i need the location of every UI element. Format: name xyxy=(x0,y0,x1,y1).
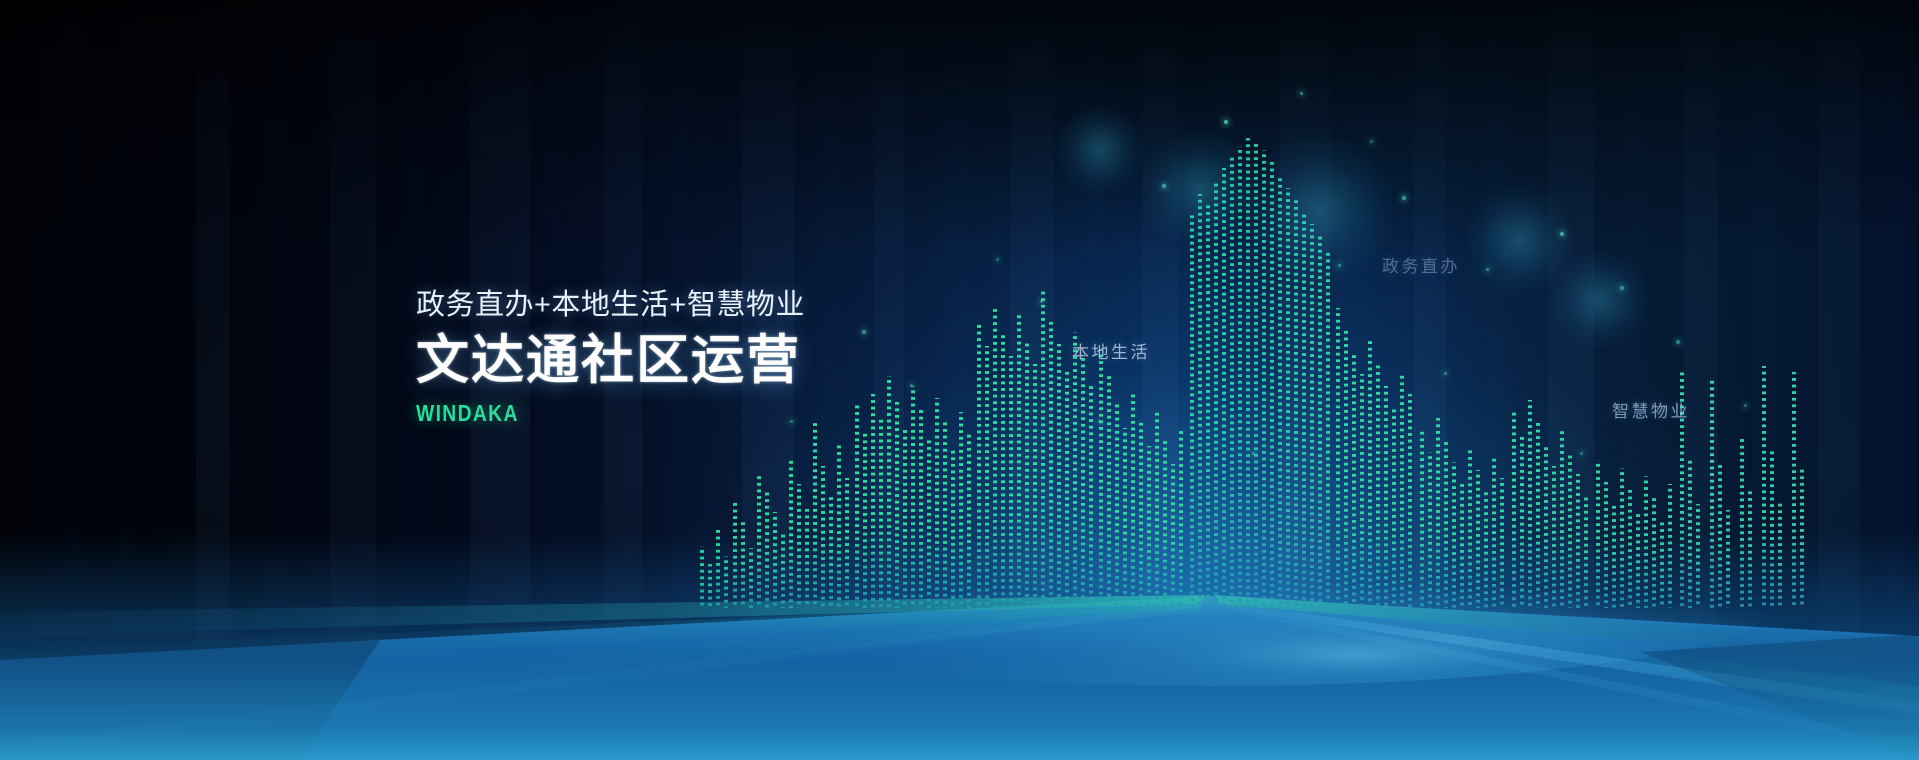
glow-particle xyxy=(1224,120,1228,124)
glow-particle xyxy=(1676,340,1680,344)
floating-label-local-life: 本地生活 xyxy=(1072,338,1150,363)
glow-particle xyxy=(1402,196,1406,200)
particle-halo xyxy=(1245,135,1395,285)
particle-halo xyxy=(1140,130,1260,250)
particle-halo xyxy=(1055,105,1145,195)
glow-particle xyxy=(1580,452,1583,455)
floating-label-smart-property: 智慧物业 xyxy=(1612,397,1690,422)
glow-particle xyxy=(996,258,999,261)
glow-particle xyxy=(1444,372,1447,375)
glow-particle xyxy=(1040,300,1043,303)
glow-particle xyxy=(1300,92,1303,95)
particle-halo xyxy=(1550,250,1650,350)
banner-title: 文达通社区运营 xyxy=(416,331,805,390)
marketing-banner: 本地生活 政务直办 智慧物业 政务直办+本地生活+智慧物业 文达通社区运营 WI… xyxy=(0,0,1919,760)
headline-copy-block: 政务直办+本地生活+智慧物业 文达通社区运营 WINDAKA xyxy=(416,286,805,427)
glow-particle xyxy=(1098,420,1101,423)
brand-wordmark: WINDAKA xyxy=(416,400,743,427)
banner-subtitle: 政务直办+本地生活+智慧物业 xyxy=(416,286,805,325)
glow-particle xyxy=(1370,140,1373,143)
glow-particle xyxy=(1252,452,1255,455)
floating-label-gov-affairs: 政务直办 xyxy=(1382,252,1460,277)
glow-particles xyxy=(0,0,1919,760)
glow-particle xyxy=(862,330,866,334)
glow-particle xyxy=(910,384,913,387)
glow-particle xyxy=(1744,404,1747,407)
